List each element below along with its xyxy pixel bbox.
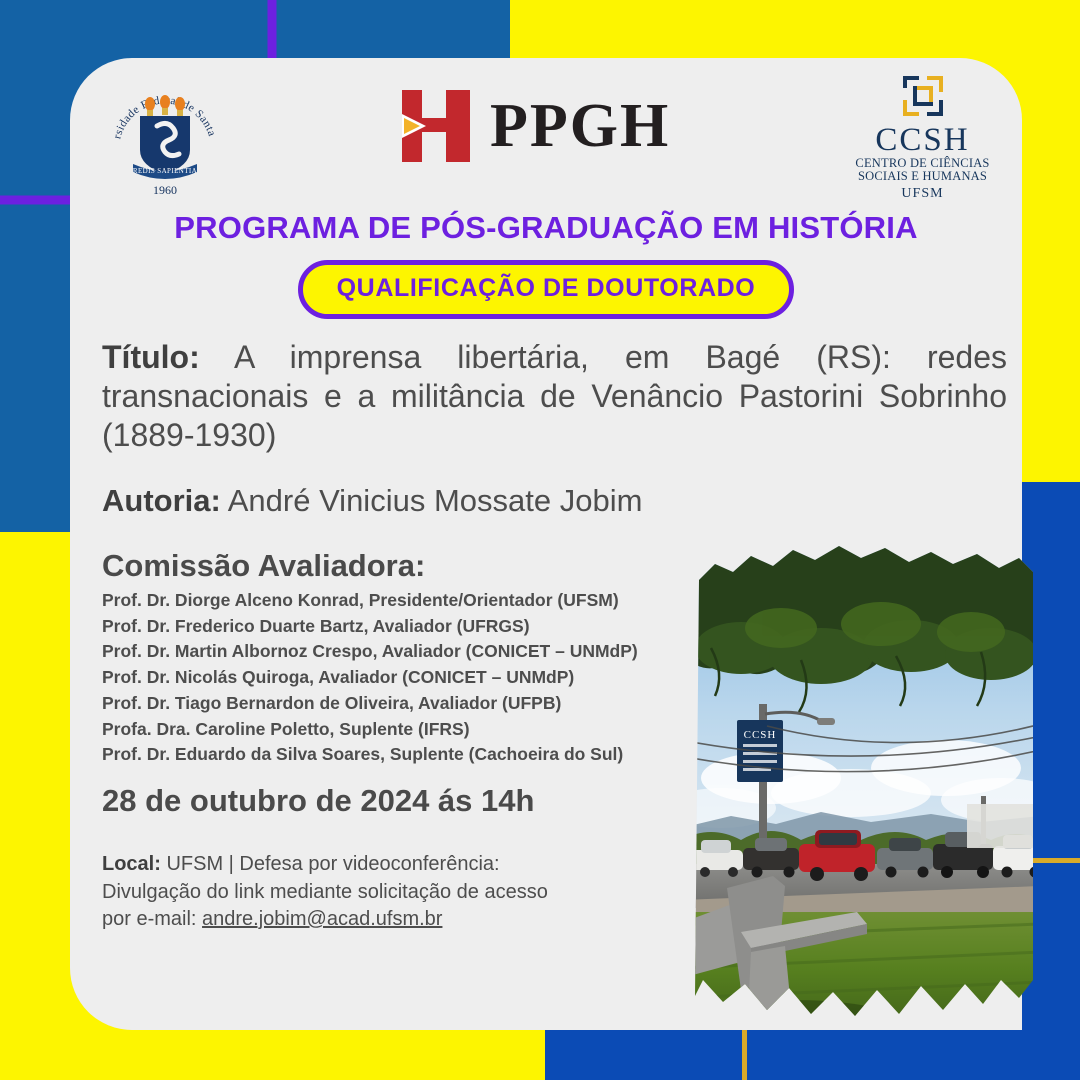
author-name: André Vinicius Mossate Jobim xyxy=(221,483,643,518)
main-text-block: Título: A imprensa libertária, em Bagé (… xyxy=(102,338,1007,519)
program-title: PROGRAMA DE PÓS-GRADUAÇÃO EM HISTÓRIA xyxy=(70,210,1022,246)
ccsh-subtitle-line2: SOCIAIS E HUMANAS xyxy=(850,170,995,183)
committee-heading: Comissão Avaliadora: xyxy=(102,548,682,584)
location-label: Local: xyxy=(102,853,161,875)
committee-member: Prof. Dr. Nicolás Quiroga, Avaliador (CO… xyxy=(102,665,682,691)
svg-text:REDIS SAPIENTIA: REDIS SAPIENTIA xyxy=(133,167,197,175)
ppgh-logo: PPGH xyxy=(400,88,670,164)
poster-root: Universidade Federal de Santa Maria REDI… xyxy=(0,0,1080,1080)
location-block: Local: UFSM | Defesa por videoconferênci… xyxy=(102,851,687,934)
thesis-title-label: Título: xyxy=(102,339,200,375)
badge-container: QUALIFICAÇÃO DE DOUTORADO xyxy=(70,260,1022,319)
thesis-title-line: Título: A imprensa libertária, em Bagé (… xyxy=(102,338,1007,455)
committee-member: Prof. Dr. Diorge Alceno Konrad, Presiden… xyxy=(102,588,682,614)
thesis-title-text: A imprensa libertária, em Bagé (RS): red… xyxy=(102,339,1007,453)
svg-text:1960: 1960 xyxy=(153,183,177,197)
location-text: UFSM | Defesa por videoconferência: xyxy=(161,853,500,875)
contact-email-link[interactable]: andre.jobim@acad.ufsm.br xyxy=(202,908,442,930)
location-line2: Divulgação do link mediante solicitação … xyxy=(102,881,548,903)
committee-member: Prof. Dr. Martin Albornoz Crespo, Avalia… xyxy=(102,639,682,665)
author-line: Autoria: André Vinicius Mossate Jobim xyxy=(102,483,1007,519)
committee-member: Prof. Dr. Eduardo da Silva Soares, Suple… xyxy=(102,742,682,768)
status-badge: QUALIFICAÇÃO DE DOUTORADO xyxy=(298,260,795,319)
event-date: 28 de outubro de 2024 ás 14h xyxy=(102,783,702,819)
ccsh-mark-icon xyxy=(897,70,949,122)
location-line3-prefix: por e-mail: xyxy=(102,908,202,930)
author-label: Autoria: xyxy=(102,483,221,518)
ufsm-logo-icon: Universidade Federal de Santa Maria REDI… xyxy=(100,68,230,198)
svg-text:CCSH: CCSH xyxy=(744,729,777,741)
ccsh-ufsm-label: UFSM xyxy=(850,186,995,202)
event-photo: CCSH xyxy=(681,528,1041,1038)
committee-member: Prof. Dr. Tiago Bernardon de Oliveira, A… xyxy=(102,691,682,717)
committee-member: Prof. Dr. Frederico Duarte Bartz, Avalia… xyxy=(102,614,682,640)
committee-member: Profa. Dra. Caroline Poletto, Suplente (… xyxy=(102,717,682,743)
ppgh-mark-icon xyxy=(400,88,472,164)
ccsh-title: CCSH xyxy=(850,124,995,157)
logo-row: Universidade Federal de Santa Maria REDI… xyxy=(70,58,1022,198)
ppgh-wordmark: PPGH xyxy=(490,95,670,157)
committee-block: Comissão Avaliadora: Prof. Dr. Diorge Al… xyxy=(102,548,682,768)
ccsh-logo: CCSH CENTRO DE CIÊNCIAS SOCIAIS E HUMANA… xyxy=(850,70,995,202)
ccsh-subtitle-line1: CENTRO DE CIÊNCIAS xyxy=(850,157,995,170)
